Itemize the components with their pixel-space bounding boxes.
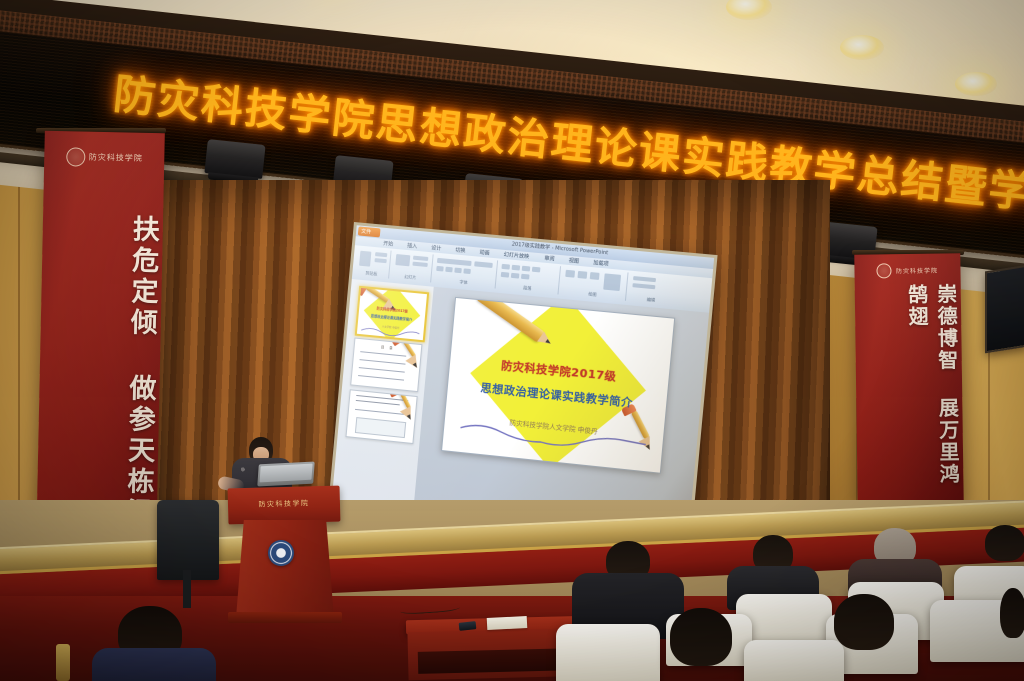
stage-light-1: [204, 139, 265, 179]
tab-animation[interactable]: 动画: [479, 249, 490, 257]
audience-head-front-2: [834, 594, 894, 650]
left-banner-logo: 防灾科技学院: [44, 141, 165, 174]
ribbon-group-paragraph: 段落: [497, 261, 561, 295]
downlight-3: [955, 72, 997, 96]
audience-head-front-3: [1000, 588, 1024, 638]
podium-emblem-icon: [268, 540, 294, 566]
auditorium-scene: 防灾科技学院思想政治理论课实践教学总结暨学生竞赛颁奖大会 文件 2017级实践教…: [0, 0, 1024, 681]
foreground-audience-shoulder: [92, 648, 216, 681]
ribbon-label-editing: 编辑: [627, 295, 675, 306]
right-banner-text: 崇德博智 展万里鸿鹄翅: [855, 283, 964, 494]
stage-chair: [157, 500, 219, 580]
ribbon-group-clipboard: 剪贴板: [354, 247, 391, 278]
downlight-2: [840, 35, 884, 60]
podium-body: [236, 520, 334, 618]
tab-insert[interactable]: 插入: [407, 242, 418, 250]
tab-review[interactable]: 审阅: [544, 255, 555, 263]
stanchion-post: [56, 644, 70, 681]
tab-start[interactable]: 开始: [383, 240, 394, 248]
seat-c1: [744, 640, 844, 681]
right-banner-logo-text: 防灾科技学院: [896, 265, 938, 275]
slide-thumbnail-1[interactable]: 防灾科技学院2017级 思想政治理论课实践教学简介 人文学院 申俊丹: [355, 286, 429, 343]
slide-thumbnail-3[interactable]: [345, 389, 417, 444]
tab-transition[interactable]: 切换: [455, 246, 466, 254]
school-seal-icon-right: [877, 263, 892, 278]
ribbon-group-slides: 幻灯片: [390, 251, 434, 283]
school-seal-icon: [66, 147, 85, 166]
podium-plaque-text: 防灾科技学院: [228, 498, 340, 511]
ribbon-group-drawing: 绘图: [559, 266, 628, 300]
tab-addins[interactable]: 加载项: [593, 259, 609, 267]
tab-design[interactable]: 设计: [431, 244, 442, 252]
stage-table-shelf: [418, 648, 576, 674]
wall-mounted-display: [985, 265, 1024, 354]
slide-thumbnail-2[interactable]: 目 录: [350, 338, 422, 393]
ribbon-group-editing: 编辑: [627, 273, 677, 306]
ribbon-label-slides: 幻灯片: [390, 273, 431, 283]
audience-head-back-4: [985, 525, 1024, 561]
podium-base: [228, 612, 342, 623]
left-banner-logo-text: 防灾科技学院: [89, 151, 143, 163]
seat-b1: [556, 624, 660, 681]
current-slide[interactable]: 防灾科技学院2017级 思想政治理论课实践教学简介 防灾科技学院人文学院 申俊丹: [441, 297, 675, 474]
office-orb-label: 文件: [361, 228, 372, 236]
tab-view[interactable]: 视图: [568, 257, 579, 265]
podium-laptop: [257, 461, 314, 486]
paper-sheets: [487, 616, 528, 630]
right-banner: 防灾科技学院 崇德博智 展万里鸿鹄翅: [854, 253, 963, 504]
ribbon-label-clipboard: 剪贴板: [354, 269, 388, 278]
ribbon-group-font: 字体: [432, 255, 498, 289]
podium-top: 防灾科技学院: [228, 486, 341, 525]
right-banner-logo: 防灾科技学院: [854, 258, 960, 281]
audience-head-front-1: [670, 608, 732, 666]
